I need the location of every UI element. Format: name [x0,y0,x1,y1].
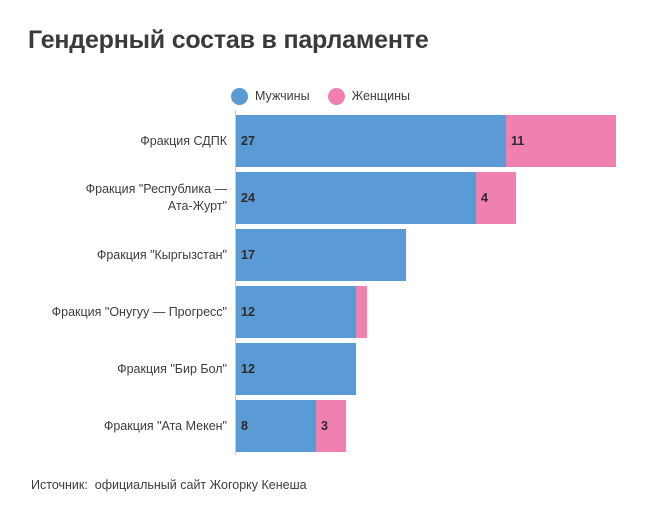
bar-segment-male[interactable]: 27 [236,115,506,167]
chart-legend: Мужчины Женщины [231,86,410,106]
bar-segment-male[interactable]: 24 [236,172,476,224]
stacked-bar: 27 11 [236,115,616,167]
legend-label-female: Женщины [352,89,410,103]
bar-segment-female[interactable]: 11 [506,115,616,167]
category-label-line: Фракция "Ата Мекен" [104,418,227,435]
bar-row: Фракция "Республика — Ата-Журт" 24 4 [0,172,660,224]
category-label-line: Фракция "Кыргызстан" [97,247,227,264]
bar-row: Фракция СДПК 27 11 [0,115,660,167]
stacked-bar: 12 [236,286,367,338]
bar-segment-male[interactable]: 8 [236,400,316,452]
category-label: Фракция "Ата Мекен" [17,400,227,452]
bar-row: Фракция "Онугуу — Прогресс" 12 [0,286,660,338]
category-label: Фракция СДПК [17,115,227,167]
bar-segment-male[interactable]: 12 [236,343,356,395]
bar-value-female: 3 [321,419,328,433]
bar-row: Фракция "Кыргызстан" 17 [0,229,660,281]
bar-value-male: 12 [241,305,255,319]
bar-segment-female[interactable] [356,286,367,338]
category-label-line: Ата-Журт" [168,198,227,215]
page-title: Гендерный состав в парламенте [28,26,429,55]
source-note: Источник: официальный сайт Жогорку Кенеш… [31,478,307,492]
stacked-bar: 17 [236,229,406,281]
bar-value-male: 24 [241,191,255,205]
bar-segment-male[interactable]: 17 [236,229,406,281]
bar-value-female: 4 [481,191,488,205]
category-label: Фракция "Кыргызстан" [17,229,227,281]
bar-value-male: 17 [241,248,255,262]
bar-segment-female[interactable]: 4 [476,172,516,224]
legend-label-male: Мужчины [255,89,310,103]
bar-segment-female[interactable]: 3 [316,400,346,452]
category-label: Фракция "Бир Бол" [17,343,227,395]
bar-value-male: 8 [241,419,248,433]
legend-item-female[interactable]: Женщины [328,88,410,105]
stacked-bar: 12 [236,343,356,395]
stacked-bar: 24 4 [236,172,516,224]
chart-plot-area: Фракция СДПК 27 11 Фракция "Республика —… [0,110,660,455]
category-label: Фракция "Онугуу — Прогресс" [17,286,227,338]
circle-marker-icon [231,88,248,105]
bar-value-female: 11 [511,134,524,148]
category-label-line: Фракция "Бир Бол" [117,361,227,378]
stacked-bar: 8 3 [236,400,346,452]
bar-row: Фракция "Бир Бол" 12 [0,343,660,395]
category-label-line: Фракция СДПК [140,133,227,150]
legend-item-male[interactable]: Мужчины [231,88,310,105]
circle-marker-icon [328,88,345,105]
category-label: Фракция "Республика — Ата-Журт" [17,172,227,224]
category-label-line: Фракция "Онугуу — Прогресс" [52,304,227,321]
bar-segment-male[interactable]: 12 [236,286,356,338]
bar-value-male: 12 [241,362,255,376]
bar-row: Фракция "Ата Мекен" 8 3 [0,400,660,452]
category-label-line: Фракция "Республика — [86,181,227,198]
bar-value-male: 27 [241,134,255,148]
